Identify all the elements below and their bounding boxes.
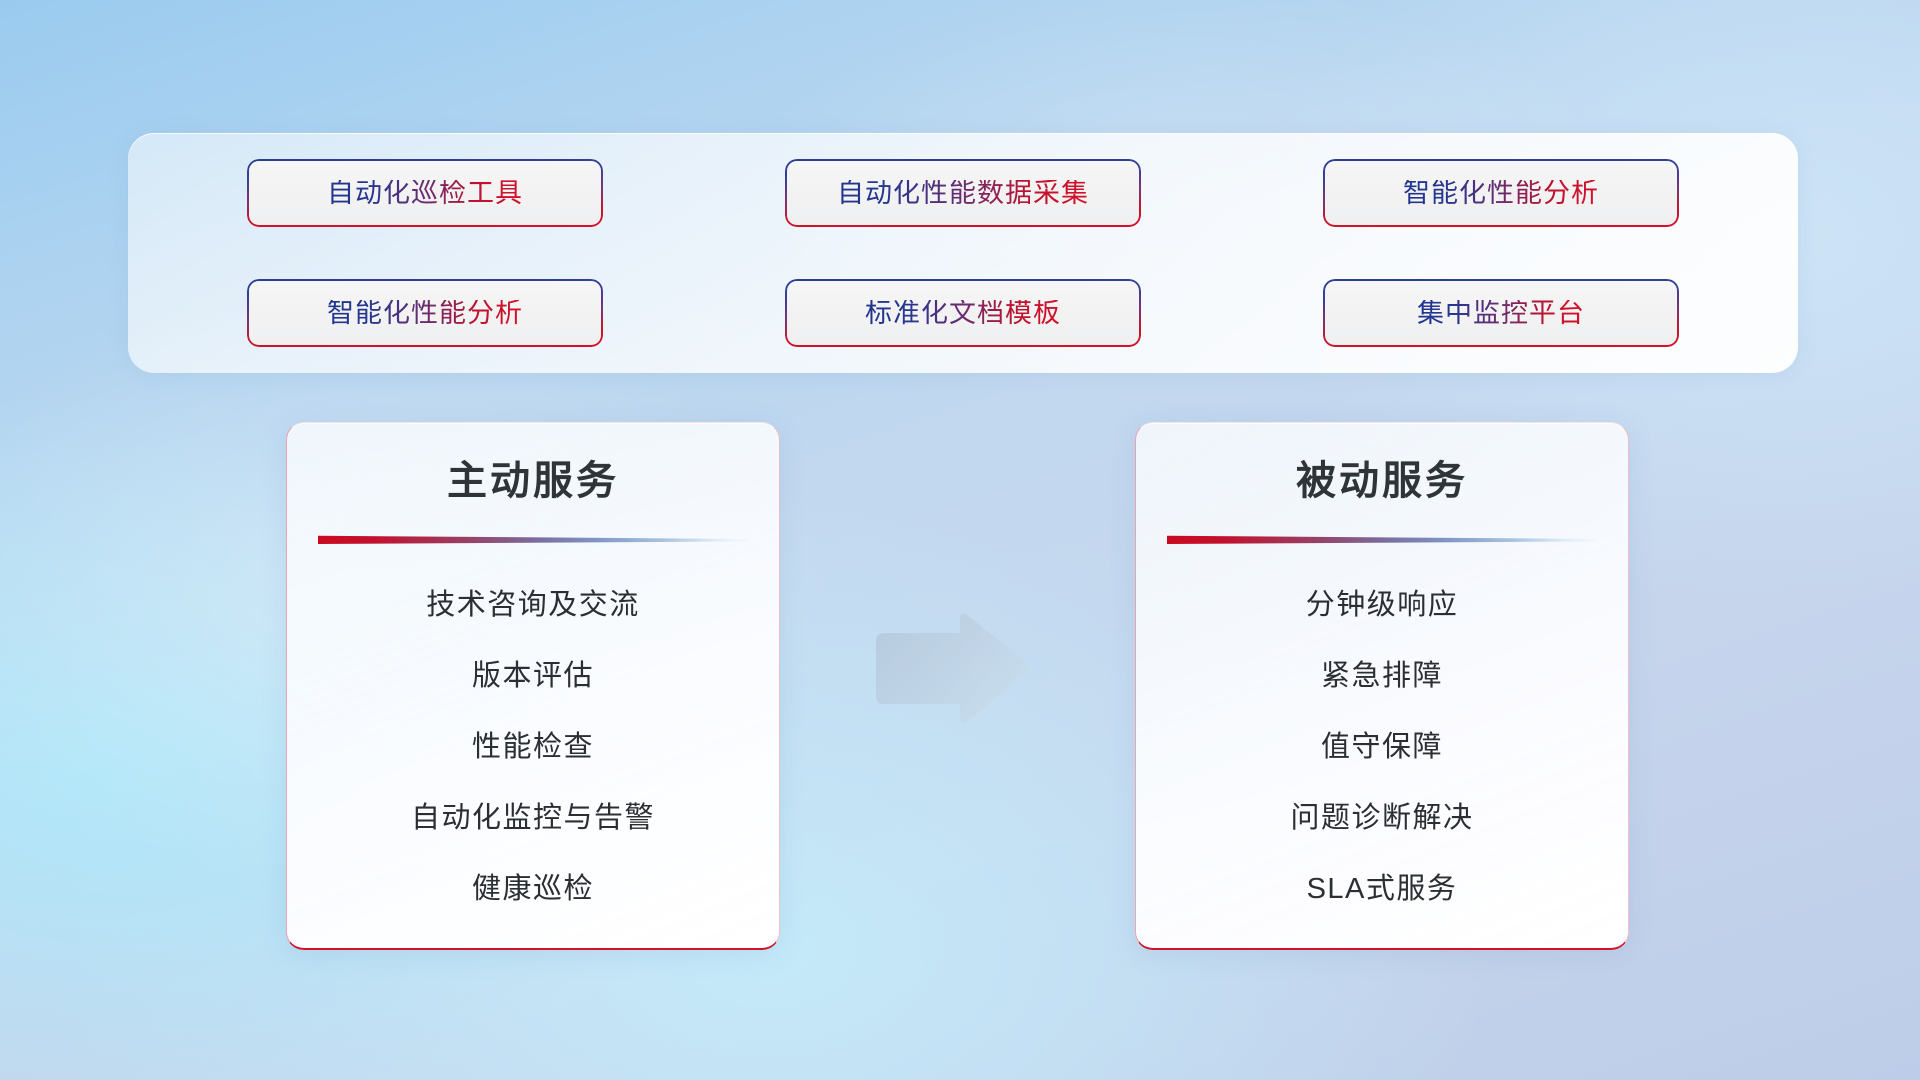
service-list: 技术咨询及交流 版本评估 性能检查 自动化监控与告警 健康巡检 [287,570,779,925]
service-list-item: 技术咨询及交流 [426,570,640,641]
capability-pill[interactable]: 智能化性能分析 [247,279,603,347]
capability-pill[interactable]: 标准化文档模板 [785,279,1141,347]
service-list: 分钟级响应 紧急排障 值守保障 问题诊断解决 SLA式服务 [1136,570,1628,925]
card-title: 被动服务 [1296,461,1468,501]
capability-pill[interactable]: 智能化性能分析 [1323,159,1679,227]
service-list-item: 性能检查 [472,712,594,783]
service-list-item: 健康巡检 [472,854,594,925]
capability-pill-label: 集中监控平台 [1417,300,1585,327]
service-list-item: 版本评估 [472,641,594,712]
capability-pill-label: 智能化性能分析 [1403,180,1599,207]
capability-pill[interactable]: 自动化性能数据采集 [785,159,1141,227]
capability-pill-label: 自动化巡检工具 [327,180,523,207]
service-list-item: 紧急排障 [1321,641,1443,712]
capability-panel: 自动化巡检工具 自动化性能数据采集 智能化性能分析 智能化性能分析 标准化文档模… [128,133,1798,373]
card-title: 主动服务 [447,461,619,501]
service-list-item: 分钟级响应 [1306,570,1459,641]
capability-pill-label: 智能化性能分析 [327,300,523,327]
service-list-item: 问题诊断解决 [1290,783,1473,854]
capability-pill-label: 自动化性能数据采集 [837,180,1089,207]
service-list-item: 值守保障 [1321,712,1443,783]
card-divider [318,535,748,544]
service-card-reactive: 被动服务 分钟级响应 紧急排障 值守保障 问题诊断解决 SLA式服务 [1135,422,1629,950]
card-divider [1167,535,1597,544]
capability-pill-label: 标准化文档模板 [865,300,1061,327]
service-list-item: SLA式服务 [1307,854,1458,925]
service-card-proactive: 主动服务 技术咨询及交流 版本评估 性能检查 自动化监控与告警 健康巡检 [286,422,780,950]
service-list-item: 自动化监控与告警 [411,783,655,854]
capability-pill[interactable]: 集中监控平台 [1323,279,1679,347]
capability-pill[interactable]: 自动化巡检工具 [247,159,603,227]
